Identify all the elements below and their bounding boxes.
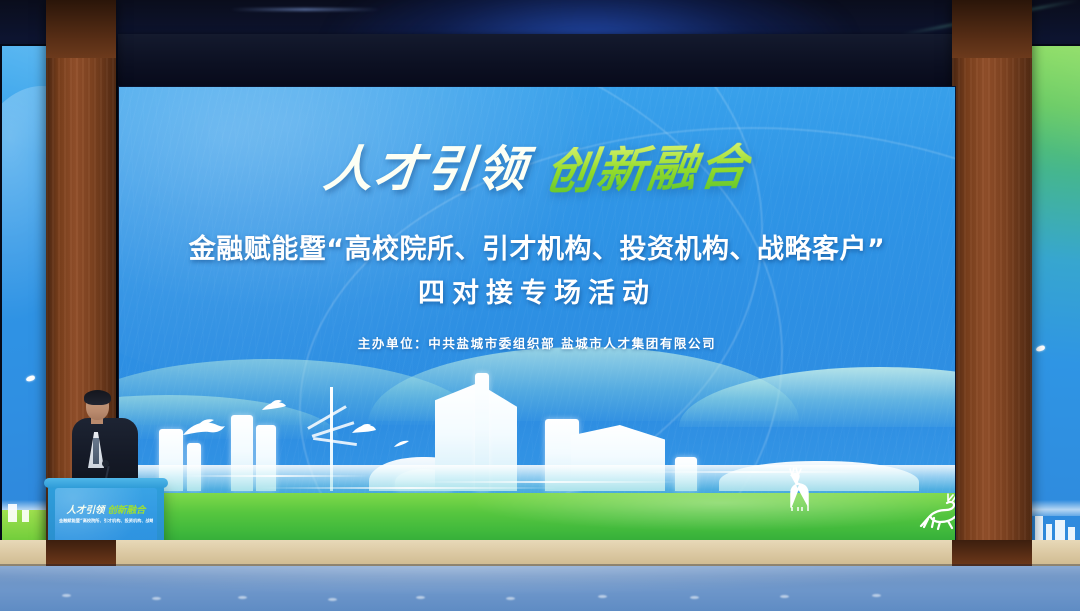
right-panel-water — [1032, 500, 1080, 516]
floor-light-dot — [598, 595, 607, 598]
headline-white-text: 人才引领 — [321, 145, 530, 194]
deer-icon — [778, 467, 818, 513]
deer-icon — [918, 493, 956, 533]
stage-floor-sheen — [0, 566, 1080, 611]
crane-icon — [261, 399, 287, 415]
water-ripple — [259, 487, 559, 489]
floor-light-dot — [780, 595, 789, 598]
main-led-backdrop: 人才引领创新融合 金融赋能暨“高校院所、引才机构、投资机构、战略客户” 四对接专… — [118, 86, 956, 544]
water-ripple — [639, 471, 869, 473]
right-panel-light-ray — [1030, 44, 1080, 246]
floor-light-dot — [506, 597, 515, 600]
backdrop-organizer: 主办单位：中共盐城市委组织部 盐城市人才集团有限公司 — [119, 333, 955, 352]
floor-light-dot — [152, 597, 161, 600]
lectern-top-edge — [44, 478, 168, 488]
pillar-grain — [952, 0, 1032, 611]
backdrop-subtitle-line2: 四对接专场活动 — [119, 271, 955, 310]
lectern-headline-green: 创新融合 — [108, 505, 146, 516]
stage-scene: 人才引领创新融合 金融赋能暨“高校院所、引才机构、投资机构、战略客户” 四对接专… — [0, 0, 1080, 611]
crane-icon — [351, 423, 377, 439]
right-panel-building — [1035, 516, 1043, 542]
water-ripple — [179, 475, 369, 477]
microphone-icon — [102, 460, 109, 467]
floor-light-dot — [62, 594, 71, 597]
ceiling-light-streak — [230, 8, 380, 11]
speaker-tie — [93, 438, 99, 464]
wooden-pillar-right — [952, 0, 1032, 611]
pillar-cap — [952, 0, 1032, 58]
left-panel-building — [22, 510, 29, 522]
floor-light-dot — [416, 596, 425, 599]
backdrop-subtitle-line1: 金融赋能暨“高校院所、引才机构、投资机构、战略客户” — [119, 227, 955, 266]
floor-light-dot — [328, 598, 337, 601]
crane-icon — [393, 439, 411, 451]
lectern-sign-subtitle: 金融赋能暨“高校院所、引才机构、投资机构、战略客户”四对接专场活动 — [59, 518, 153, 524]
left-panel-light-ray — [0, 44, 50, 246]
ceiling-beam — [118, 34, 958, 90]
pillar-cap — [46, 0, 116, 58]
floor-light-dot — [690, 596, 699, 599]
crane-icon — [181, 417, 227, 443]
floor-light-dot — [872, 594, 881, 597]
right-led-panel — [1030, 44, 1080, 558]
left-panel-building — [8, 504, 17, 522]
floor-light-dot — [238, 596, 247, 599]
lectern-sign-headline: 人才引领创新融合 — [55, 502, 157, 516]
meadow-highlight — [119, 493, 955, 543]
speaker-hair — [84, 390, 111, 405]
water-ripple — [419, 481, 679, 483]
backdrop-headline: 人才引领创新融合 — [119, 145, 955, 194]
headline-green-text: 创新融合 — [542, 142, 753, 196]
right-panel-building — [1055, 520, 1065, 542]
lectern-headline-white: 人才引领 — [66, 505, 104, 516]
